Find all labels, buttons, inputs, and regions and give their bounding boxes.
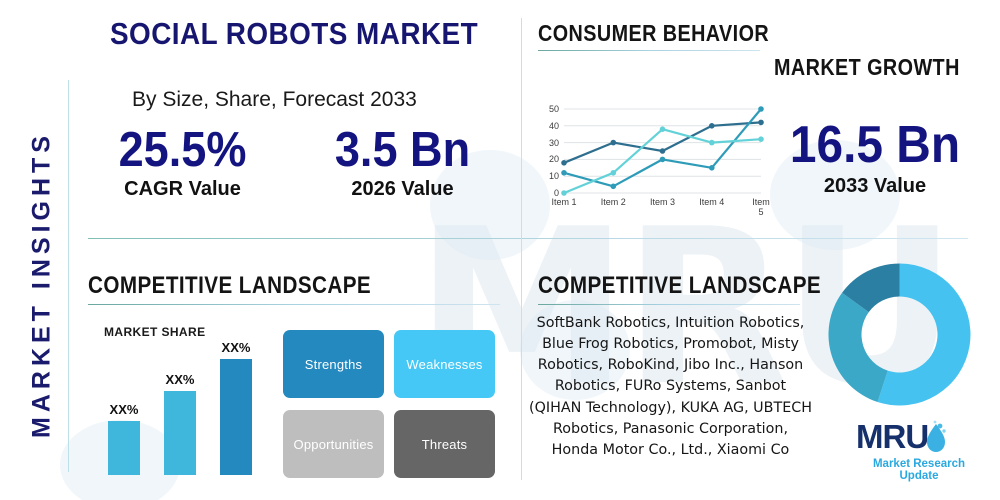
stat-2026-value: 3.5 Bn bbox=[327, 125, 479, 176]
bar-chart-data-label: XX% bbox=[110, 402, 139, 417]
line-chart-y-tick: 30 bbox=[549, 138, 559, 148]
stat-cagr-label: CAGR Value bbox=[100, 178, 265, 201]
horizontal-divider bbox=[88, 238, 968, 239]
stat-2033-value: 16.5 Bn bbox=[783, 118, 967, 173]
line-chart-y-tick: 50 bbox=[549, 104, 559, 114]
logo-mark-text: MRU bbox=[856, 418, 928, 456]
line-chart-x-tick: Item 2 bbox=[601, 197, 626, 207]
competitive-donut-chart bbox=[827, 262, 972, 407]
bar-chart-bar bbox=[220, 359, 252, 475]
section-rule bbox=[538, 50, 760, 51]
rail-vertical-line bbox=[68, 80, 69, 472]
donut-chart-svg bbox=[827, 262, 972, 407]
section-rule bbox=[538, 304, 800, 305]
section-heading-market-growth: MARKET GROWTH bbox=[774, 54, 960, 81]
swot-cell-opportunities[interactable]: Opportunities bbox=[283, 410, 384, 478]
line-chart-x-tick: Item 1 bbox=[551, 197, 576, 207]
logo-tagline: Market Research Update bbox=[856, 458, 982, 482]
page-title: SOCIAL ROBOTS MARKET bbox=[110, 16, 478, 52]
stat-cagr: 25.5% CAGR Value bbox=[100, 125, 265, 201]
stat-cagr-value: 25.5% bbox=[107, 125, 259, 176]
section-rule bbox=[88, 304, 500, 305]
mru-logo: MRU Market Research Update bbox=[856, 418, 982, 476]
swot-cell-weaknesses[interactable]: Weaknesses bbox=[394, 330, 495, 398]
consumer-behavior-line-chart: 50403020100 Item 1Item 2Item 3Item 4Item… bbox=[534, 103, 769, 215]
logo-droplet-icon bbox=[922, 420, 948, 454]
stat-2033-label: 2033 Value bbox=[775, 175, 975, 198]
line-chart-x-tick: Item 4 bbox=[699, 197, 724, 207]
market-share-bar-chart: XX%XX%XX% bbox=[100, 340, 270, 475]
page-subtitle: By Size, Share, Forecast 2033 bbox=[132, 88, 417, 112]
bar-chart-bar bbox=[108, 421, 140, 475]
company-list: SoftBank Robotics, Intuition Robotics, B… bbox=[528, 313, 813, 461]
swot-matrix: StrengthsWeaknessesOpportunitiesThreats bbox=[283, 330, 495, 478]
infographic-canvas: MRU MARKET INSIGHTS SOCIAL ROBOTS MARKET… bbox=[0, 0, 1000, 500]
line-chart-y-tick: 20 bbox=[549, 154, 559, 164]
bar-chart-data-label: XX% bbox=[166, 372, 195, 387]
section-heading-consumer-behavior: CONSUMER BEHAVIOR bbox=[538, 20, 769, 47]
swot-cell-threats[interactable]: Threats bbox=[394, 410, 495, 478]
stat-2033: 16.5 Bn 2033 Value bbox=[775, 118, 975, 198]
rail-market-insights-label: MARKET INSIGHTS bbox=[28, 75, 57, 495]
line-chart-y-tick: 40 bbox=[549, 121, 559, 131]
line-chart-x-tick: Item 3 bbox=[650, 197, 675, 207]
bar-chart-data-label: XX% bbox=[222, 340, 251, 355]
line-chart-x-tick: Item 5 bbox=[752, 197, 770, 217]
line-chart-y-tick: 10 bbox=[549, 171, 559, 181]
section-heading-competitive-landscape-right: COMPETITIVE LANDSCAPE bbox=[538, 272, 821, 300]
stat-2026-label: 2026 Value bbox=[320, 178, 485, 201]
bar-chart-bar bbox=[164, 391, 196, 475]
vertical-divider bbox=[521, 18, 522, 480]
bar-chart-title: MARKET SHARE bbox=[104, 325, 205, 339]
section-heading-competitive-landscape-left: COMPETITIVE LANDSCAPE bbox=[88, 272, 371, 300]
swot-cell-strengths[interactable]: Strengths bbox=[283, 330, 384, 398]
stat-2026: 3.5 Bn 2026 Value bbox=[320, 125, 485, 201]
